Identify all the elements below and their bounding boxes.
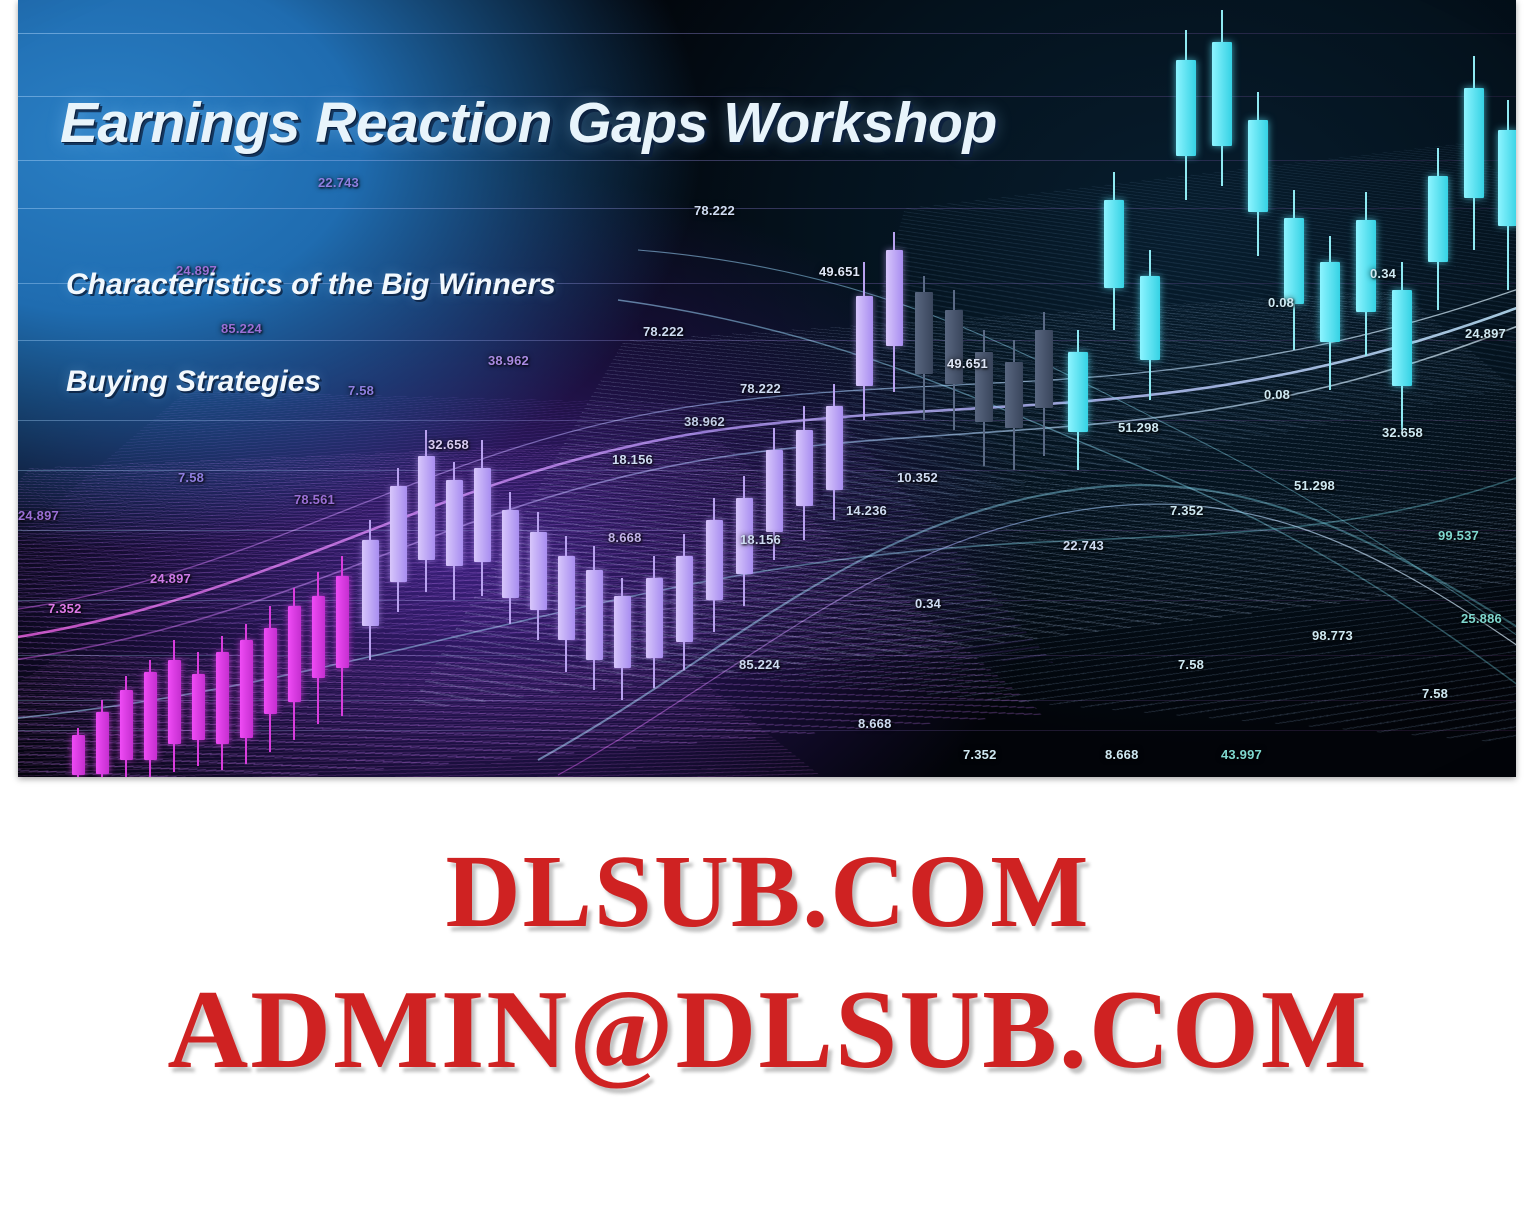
candlestick — [975, 330, 993, 466]
candlestick-body — [558, 556, 575, 640]
candlestick — [192, 652, 205, 766]
candlestick-body — [1068, 352, 1088, 432]
gridline — [18, 600, 1516, 601]
candlestick-body — [586, 570, 603, 660]
candlestick-body — [264, 628, 277, 714]
candlestick-body — [945, 310, 963, 384]
price-label: 22.743 — [1063, 538, 1104, 553]
candlestick — [1320, 236, 1340, 390]
candlestick — [1005, 340, 1023, 470]
watermark-email-text: ADMIN@DLSUB.COM — [167, 968, 1368, 1092]
candlestick-body — [120, 690, 133, 760]
price-label: 85.224 — [221, 321, 262, 336]
candlestick — [766, 428, 783, 560]
candlestick — [1176, 30, 1196, 200]
candlestick-body — [1140, 276, 1160, 360]
banner-subtitle-strategies: Buying Strategies — [66, 365, 321, 399]
candlestick-body — [336, 576, 349, 668]
candlestick-body — [1284, 218, 1304, 304]
candlestick — [915, 276, 933, 420]
price-label: 0.34 — [915, 596, 941, 611]
candlestick-body — [975, 352, 993, 422]
candlestick — [826, 384, 843, 520]
candlestick — [336, 556, 349, 716]
candlestick-body — [856, 296, 873, 386]
candlestick-body — [614, 596, 631, 668]
candlestick-body — [676, 556, 693, 642]
watermark-site: DLSUB.COM — [0, 832, 1536, 951]
candlestick-body — [530, 532, 547, 610]
candlestick-body — [1498, 130, 1516, 226]
candlestick-body — [915, 292, 933, 374]
candlestick-body — [288, 606, 301, 702]
candlestick — [1428, 148, 1448, 310]
candlestick — [144, 660, 157, 777]
candlestick-body — [1248, 120, 1268, 212]
candlestick — [168, 640, 181, 772]
candlestick-body — [418, 456, 435, 560]
candlestick — [1498, 100, 1516, 290]
candlestick — [1356, 192, 1376, 356]
price-label: 38.962 — [684, 414, 725, 429]
candlestick — [736, 476, 753, 606]
price-label: 8.668 — [1105, 747, 1139, 762]
candlestick — [886, 232, 903, 392]
candlestick — [614, 578, 631, 700]
candlestick — [1068, 330, 1088, 470]
gridline — [18, 96, 1516, 97]
price-label: 98.773 — [1312, 628, 1353, 643]
gridline — [18, 420, 1516, 421]
candlestick — [390, 468, 407, 612]
price-label: 51.298 — [1118, 420, 1159, 435]
candlestick-body — [168, 660, 181, 744]
candlestick-body — [474, 468, 491, 562]
candlestick-body — [706, 520, 723, 600]
candlestick — [72, 728, 85, 777]
price-label: 78.222 — [694, 203, 735, 218]
candlestick — [264, 606, 277, 752]
candlestick-body — [766, 450, 783, 532]
candlestick-body — [1035, 330, 1053, 408]
watermark-site-text: DLSUB.COM — [446, 834, 1091, 949]
candlestick-body — [96, 712, 109, 774]
candlestick-body — [1176, 60, 1196, 156]
price-label: 7.58 — [1422, 686, 1448, 701]
candlestick-body — [502, 510, 519, 598]
candlestick — [530, 512, 547, 640]
candlestick-body — [1464, 88, 1484, 198]
price-label: 18.156 — [612, 452, 653, 467]
price-label: 7.58 — [348, 383, 374, 398]
candlestick — [1464, 56, 1484, 250]
candlestick — [502, 492, 519, 624]
candlestick-body — [1104, 200, 1124, 288]
price-label: 24.897 — [176, 263, 217, 278]
price-label: 7.352 — [963, 747, 997, 762]
watermark-email: ADMIN@DLSUB.COM — [0, 966, 1536, 1095]
price-label: 7.352 — [1170, 503, 1204, 518]
candlestick-body — [240, 640, 253, 738]
price-label: 22.743 — [318, 175, 359, 190]
gridline — [18, 160, 1516, 161]
candlestick — [288, 588, 301, 740]
candlestick — [796, 406, 813, 540]
candlestick — [1248, 92, 1268, 256]
candlestick-body — [446, 480, 463, 566]
candlestick-body — [1428, 176, 1448, 262]
price-label: 25.886 — [1461, 611, 1502, 626]
candlestick — [240, 624, 253, 764]
price-label: 43.997 — [1221, 747, 1262, 762]
candlestick-body — [1356, 220, 1376, 312]
price-label: 0.08 — [1264, 387, 1290, 402]
candlestick-body — [646, 578, 663, 658]
candlestick-body — [1320, 262, 1340, 342]
price-label: 78.222 — [643, 324, 684, 339]
candlestick — [945, 290, 963, 430]
candlestick — [474, 440, 491, 596]
price-label: 78.561 — [294, 492, 335, 507]
candlestick-body — [886, 250, 903, 346]
candlestick-body — [192, 674, 205, 740]
hero-chart-banner: 22.74378.22224.89749.6510.340.0885.22478… — [18, 0, 1516, 777]
price-label: 8.668 — [858, 716, 892, 731]
price-label: 10.352 — [897, 470, 938, 485]
candlestick — [418, 430, 435, 592]
candlestick — [96, 700, 109, 777]
candlestick — [216, 636, 229, 770]
price-label: 7.58 — [178, 470, 204, 485]
candlestick — [446, 462, 463, 600]
candlestick-body — [362, 540, 379, 626]
candlestick — [1140, 250, 1160, 400]
candlestick — [558, 536, 575, 672]
price-label: 7.352 — [48, 601, 82, 616]
candlestick — [120, 676, 133, 777]
candlestick-body — [826, 406, 843, 490]
candlestick — [312, 572, 325, 724]
candlestick — [646, 556, 663, 688]
candlestick — [856, 262, 873, 420]
candlestick-body — [1212, 42, 1232, 146]
candlestick-body — [1005, 362, 1023, 428]
candlestick — [586, 546, 603, 690]
price-label: 38.962 — [488, 353, 529, 368]
price-label: 24.897 — [1465, 326, 1506, 341]
candlestick — [362, 520, 379, 660]
candlestick-body — [736, 498, 753, 574]
banner-subtitle-characteristics: Characteristics of the Big Winners — [66, 268, 556, 302]
price-label: 8.668 — [608, 530, 642, 545]
page-title: Earnings Reaction Gaps Workshop — [60, 90, 997, 156]
price-label: 85.224 — [739, 657, 780, 672]
candlestick-body — [796, 430, 813, 506]
price-label: 7.58 — [1178, 657, 1204, 672]
candlestick-body — [72, 735, 85, 775]
candlestick-body — [144, 672, 157, 760]
candlestick — [676, 534, 693, 670]
candlestick — [1284, 190, 1304, 350]
price-label: 14.236 — [846, 503, 887, 518]
price-label: 24.897 — [18, 508, 59, 523]
candlestick-body — [1392, 290, 1412, 386]
price-label: 24.897 — [150, 571, 191, 586]
candlestick — [1035, 312, 1053, 456]
page-root: 22.74378.22224.89749.6510.340.0885.22478… — [0, 0, 1536, 1232]
price-label: 99.537 — [1438, 528, 1479, 543]
gridline — [18, 33, 1516, 34]
price-label: 51.298 — [1294, 478, 1335, 493]
candlestick-body — [312, 596, 325, 678]
candlestick — [706, 498, 723, 632]
price-label: 78.222 — [740, 381, 781, 396]
candlestick — [1212, 10, 1232, 186]
candlestick — [1104, 172, 1124, 330]
candlestick-body — [390, 486, 407, 582]
candlestick — [1392, 262, 1412, 430]
candlestick-body — [216, 652, 229, 744]
price-label: 49.651 — [819, 264, 860, 279]
